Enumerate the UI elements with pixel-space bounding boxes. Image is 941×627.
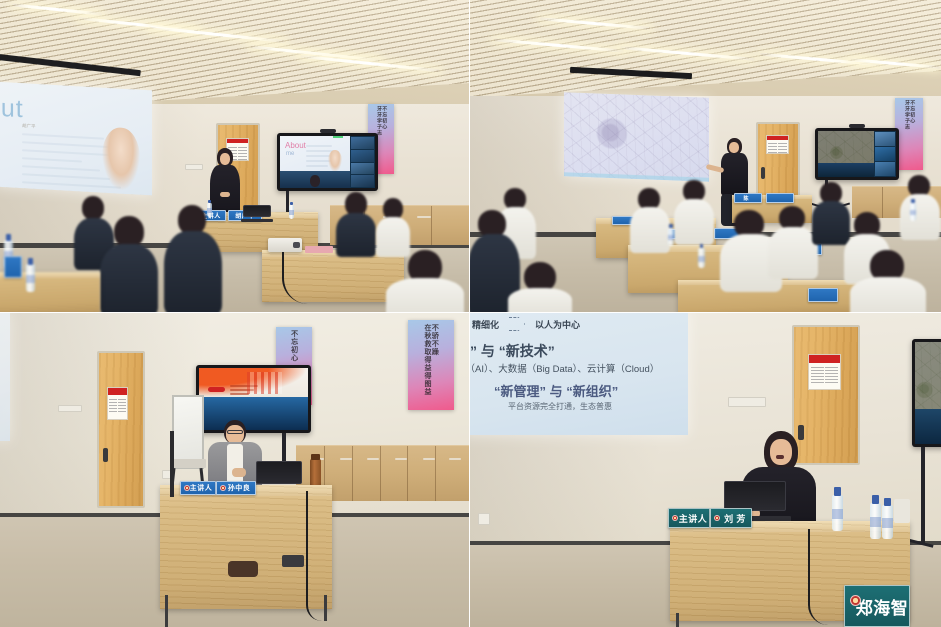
tv-participant-tiles xyxy=(350,136,375,188)
water-bottle xyxy=(870,503,881,539)
student-desk xyxy=(0,272,100,313)
tv-video-tiles xyxy=(874,131,896,177)
panel-bottom-right[interactable]: 精细化 以人为中心 素” 与 “新技术” 能（AI）、大数据（Big Data）… xyxy=(470,313,941,627)
audience-member xyxy=(630,188,670,250)
wall-banner: 不忘初心 牙牙学子志 xyxy=(895,98,923,170)
desk-leg xyxy=(324,595,327,621)
panel-top-left[interactable]: out 胡广平 xyxy=(0,0,470,313)
tv-slide-title: About xyxy=(285,141,306,150)
slide-text-platform: 平台资源完全打通，生态普惠 xyxy=(508,401,612,412)
speaker-face xyxy=(770,439,792,465)
speaker-shoe xyxy=(228,561,258,577)
notice-body xyxy=(811,365,839,385)
stand-pole xyxy=(170,431,174,497)
audience-member xyxy=(386,250,464,313)
interactive-tv-panel[interactable] xyxy=(815,128,899,180)
tv-camera-icon xyxy=(849,124,865,128)
banner-text: 不骄不躁 在秋救取得益得图益 xyxy=(424,320,439,396)
student-nameplate xyxy=(4,256,22,278)
audience-member xyxy=(508,262,572,313)
water-bottle xyxy=(26,264,35,292)
notice-body xyxy=(768,141,787,155)
nameplate-name-text: 孙中良 xyxy=(222,483,251,493)
audience-member xyxy=(900,175,940,237)
slide-text-new-mgmt: “新管理” 与 “新组织” xyxy=(494,381,618,400)
projection-screen-edge xyxy=(0,313,10,441)
easel-tray xyxy=(172,459,206,468)
slide-text-ai-bigdata-cloud: 能（AI）、大数据（Big Data）、云计算（Cloud） xyxy=(470,361,659,375)
wall-socket xyxy=(728,397,766,407)
slide-text-new-tech: 素” 与 “新技术” xyxy=(470,341,555,361)
desk-leg xyxy=(165,595,168,627)
banner-text: 不忘初心 牙牙学子志 xyxy=(376,104,387,136)
projection-title: out xyxy=(0,93,24,124)
wall-socket xyxy=(478,513,490,525)
door-handle[interactable] xyxy=(103,448,108,462)
emblem-icon xyxy=(184,485,190,491)
student-nameplate xyxy=(766,193,794,203)
ceiling xyxy=(470,0,941,100)
nameplate-foreground: 郑海智 xyxy=(844,585,910,627)
banner-text: 不忘初心 xyxy=(290,327,297,362)
door-grain xyxy=(99,353,143,506)
tv-screen xyxy=(818,131,896,177)
door[interactable] xyxy=(756,122,800,202)
tv-camera-icon xyxy=(320,129,336,133)
desk-leg xyxy=(676,613,679,627)
speaker-shirt xyxy=(227,444,243,484)
wall-banner: 不骄不躁 在秋救取得益得图益 xyxy=(408,320,454,410)
projected-map xyxy=(564,92,709,182)
projection-subtitle: 胡广平 xyxy=(22,123,36,130)
emblem-icon xyxy=(220,485,226,491)
photo-collage: out 胡广平 xyxy=(0,0,941,627)
presenter-hands xyxy=(220,192,230,197)
tv-self-view xyxy=(280,171,350,188)
water-bottle xyxy=(289,205,294,219)
notice-header xyxy=(809,355,840,362)
water-bottle xyxy=(832,495,843,531)
presenter-face xyxy=(220,153,230,165)
right-arrow-icon xyxy=(509,317,525,331)
projection-screen: out 胡广平 xyxy=(0,82,152,196)
audience-member xyxy=(850,250,924,313)
tv-screen: About me xyxy=(280,136,375,188)
glasses-icon xyxy=(227,430,243,434)
laptop-base xyxy=(241,219,273,222)
wall-socket xyxy=(185,164,203,170)
water-bottle xyxy=(882,505,893,539)
teacup xyxy=(894,499,910,523)
ceiling-slats xyxy=(470,0,941,100)
laptop[interactable] xyxy=(243,205,271,222)
emblem-icon xyxy=(672,515,678,521)
tv-slide-subtitle: me xyxy=(286,151,294,157)
nameplate-role: 主讲人 xyxy=(180,481,216,495)
laptop-lid xyxy=(243,205,271,217)
audience-member xyxy=(376,198,410,254)
tv-screen xyxy=(915,342,941,444)
presenter-face xyxy=(729,142,739,153)
slide-row-1: 精细化 以人为中心 xyxy=(472,317,580,331)
nameplate-name: 孙中良 xyxy=(216,481,256,495)
water-bottle xyxy=(668,228,674,246)
notice-header xyxy=(767,136,788,140)
interactive-tv-panel[interactable]: About me xyxy=(277,133,378,191)
notice-header xyxy=(108,388,127,395)
slide-text-people-centered: 以人为中心 xyxy=(535,318,580,331)
projection-slide: 精细化 以人为中心 素” 与 “新技术” 能（AI）、大数据（Big Data）… xyxy=(470,313,688,435)
banner-text: 不忘初心 牙牙学子志 xyxy=(904,98,915,130)
student-nameplate xyxy=(808,288,838,302)
slide-text-refined: 精细化 xyxy=(472,318,499,331)
tv-status-indicator xyxy=(333,136,343,138)
door-notice xyxy=(107,387,128,421)
projector-lens xyxy=(293,242,300,248)
tv-map-area xyxy=(818,131,874,177)
projection-screen xyxy=(564,92,709,182)
notice-body xyxy=(109,397,126,414)
wall-socket xyxy=(58,405,82,412)
tv-stand-pole xyxy=(921,447,925,543)
floor-power-box xyxy=(282,555,304,567)
door-notice xyxy=(766,135,789,155)
laptop-lid xyxy=(724,481,786,511)
speaker-hands xyxy=(232,468,246,477)
door[interactable] xyxy=(97,351,145,508)
audience-member xyxy=(674,180,714,242)
projection-portrait xyxy=(102,127,140,191)
audience-member xyxy=(100,216,158,313)
water-bottle xyxy=(910,203,916,221)
water-bottle xyxy=(698,248,705,268)
tv-slide-chart xyxy=(247,372,282,394)
nameplate-name-text: 刘 芳 xyxy=(716,512,746,525)
projector xyxy=(268,238,302,252)
door-notice xyxy=(808,354,841,389)
nameplate-name: 刘 芳 xyxy=(710,508,752,528)
audience-member xyxy=(166,205,218,313)
presenter-body xyxy=(721,153,748,195)
audience-member xyxy=(768,206,818,276)
notice-header xyxy=(227,139,248,144)
interactive-tv-panel[interactable] xyxy=(912,339,941,447)
book-stack xyxy=(305,246,333,253)
student-nameplate-text: 陈 xyxy=(743,195,752,202)
whiteboard-easel[interactable] xyxy=(172,395,204,469)
emblem-icon xyxy=(714,515,720,521)
laptop-lid xyxy=(256,461,302,484)
power-cable xyxy=(808,529,828,625)
student-nameplate: 陈 xyxy=(734,193,762,203)
emblem-icon xyxy=(850,595,861,606)
audience-member xyxy=(336,192,376,254)
door-handle[interactable] xyxy=(761,167,765,179)
panel-top-right[interactable]: 不忘初心 牙牙学子志 xyxy=(470,0,941,313)
tv-portrait xyxy=(328,150,342,172)
nameplate-role: 主讲人 xyxy=(668,508,710,528)
power-cable xyxy=(306,491,322,621)
speaker-mouth xyxy=(776,455,784,459)
panel-bottom-left[interactable]: 不忘初心 不骄不躁 在秋救取得益得图益 xyxy=(0,313,470,627)
tv-slide-area: About me xyxy=(280,136,350,188)
tv-slide-badge xyxy=(208,387,225,392)
